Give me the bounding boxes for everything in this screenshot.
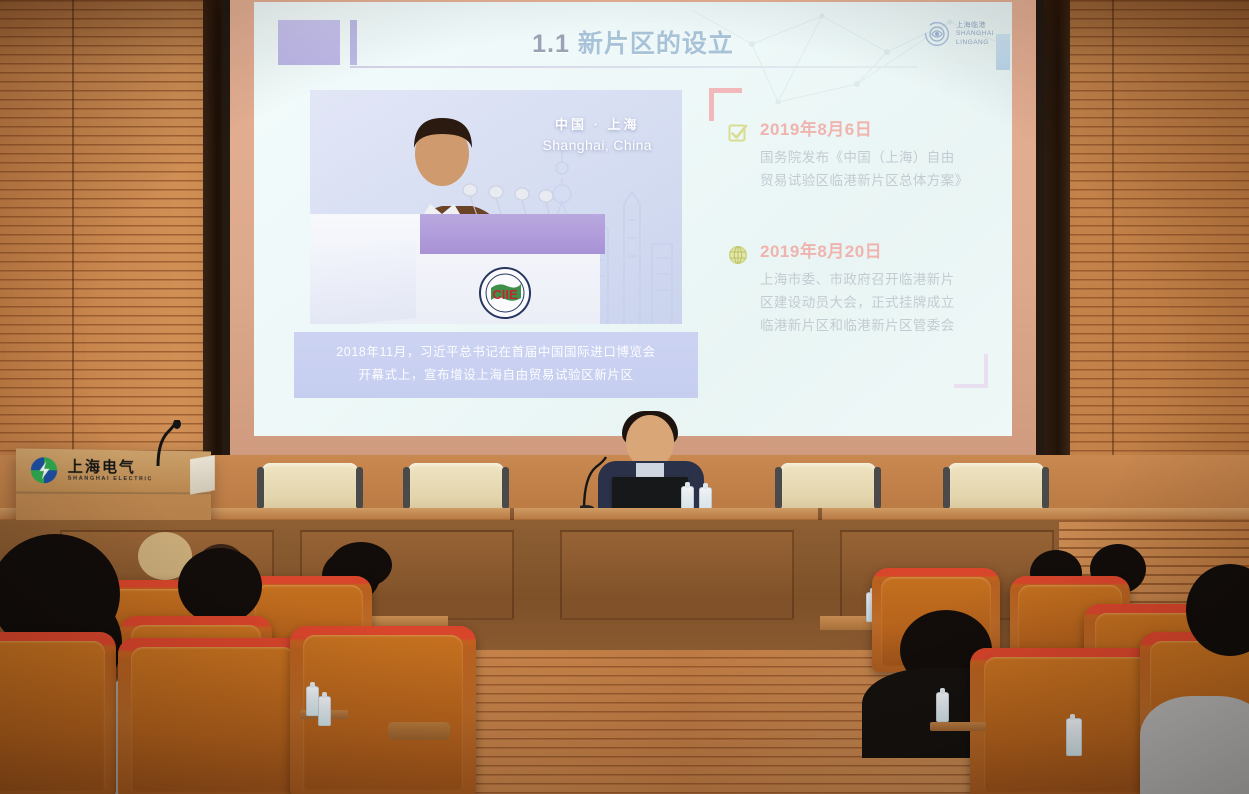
timeline-item-2-line2: 区建设动员大会，正式挂牌成立: [760, 292, 992, 315]
audience-shoulders: [1140, 696, 1249, 794]
slide-title-text: 新片区的设立: [578, 30, 734, 58]
podium-logo-cn: 上海电气: [68, 459, 153, 476]
water-bottle: [1066, 718, 1082, 756]
slide-photo: 中国 · 上海 Shanghai, China: [310, 90, 682, 324]
lingang-emblem-icon: [923, 20, 951, 48]
lingang-logo-cn: 上海临港: [956, 21, 994, 30]
timeline-item-2-body: 上海市委、市政府召开临港新片 区建设动员大会，正式挂牌成立 临港新片区和临港新片…: [760, 269, 992, 338]
lingang-logo: 上海临港 SHANGHAI LINGANG: [923, 20, 994, 48]
timeline-item-1-line1: 国务院发布《中国（上海）自由: [760, 147, 992, 170]
timeline-item-1-body: 国务院发布《中国（上海）自由 贸易试验区临港新片区总体方案》: [760, 147, 992, 193]
projection-screen-frame: 1.1 新片区的设立 上海临港 SHANGHAI LINGANG: [222, 0, 1044, 472]
auditorium-seat: [118, 638, 308, 794]
panel-chair: [408, 463, 504, 511]
checkbox-checked-icon: [728, 123, 748, 143]
lingang-logo-text: 上海临港 SHANGHAI LINGANG: [956, 21, 994, 48]
photo-overlay-cn: 中国 · 上海: [542, 114, 652, 133]
photo-caption-line1: 2018年11月，习近平总书记在首届中国国际进口博览会: [294, 341, 698, 364]
panel-chair: [948, 463, 1044, 511]
shanghai-electric-logo-icon: [29, 455, 60, 486]
audience-area: [0, 520, 1249, 794]
logo-side-tab: [996, 34, 1010, 70]
water-bottle: [936, 692, 949, 722]
ciie-emblem-icon: CIIE: [478, 266, 532, 320]
timeline-item-1-line2: 贸易试验区临港新片区总体方案》: [760, 170, 992, 193]
podium-side-face: [190, 455, 215, 494]
presentation-slide: 1.1 新片区的设立 上海临港 SHANGHAI LINGANG: [254, 2, 1012, 436]
seat-tray: [930, 722, 986, 731]
seat-armrest: [388, 722, 450, 740]
photo-caption: 2018年11月，习近平总书记在首届中国国际进口博览会 开幕式上，宣布增设上海自…: [294, 332, 698, 398]
photo-podium-band: [420, 214, 605, 254]
auditorium-seat: [0, 632, 116, 794]
corner-bracket-bottom-right: [954, 354, 988, 388]
podium-logo-en: SHANGHAI ELECTRIC: [68, 476, 153, 483]
title-underline: [350, 66, 917, 68]
photo-overlay-text: 中国 · 上海 Shanghai, China: [542, 114, 652, 153]
timeline-item-2: 2019年8月20日 上海市委、市政府召开临港新片 区建设动员大会，正式挂牌成立…: [728, 242, 992, 338]
audience-head: [178, 548, 262, 624]
wall-dark-column: [1044, 0, 1070, 520]
photo-caption-line2: 开幕式上，宣布增设上海自由贸易试验区新片区: [294, 364, 698, 387]
timeline-item-1-date: 2019年8月6日: [760, 120, 992, 140]
lecture-hall-photo: 1.1 新片区的设立 上海临港 SHANGHAI LINGANG: [0, 0, 1249, 794]
timeline-item-2-date: 2019年8月20日: [760, 242, 992, 262]
globe-icon: [728, 245, 748, 265]
water-bottle: [318, 696, 331, 726]
panel-chair: [780, 463, 876, 511]
photo-podium-side: [310, 240, 416, 324]
presenter-laptop: [612, 477, 688, 511]
slide-title-number: 1.1: [532, 30, 570, 58]
timeline-item-2-line3: 临港新片区和临港新片区管委会: [760, 315, 992, 338]
lingang-logo-en1: SHANGHAI: [956, 30, 994, 39]
corner-bracket-top-left: [709, 88, 742, 121]
panel-chair: [262, 463, 358, 511]
photo-overlay-en: Shanghai, China: [542, 137, 652, 153]
wall-panel: [560, 530, 794, 620]
lingang-logo-en2: LINGANG: [956, 39, 994, 48]
ciie-emblem-text: CIIE: [492, 287, 518, 302]
timeline-item-2-line1: 上海市委、市政府召开临港新片: [760, 269, 992, 292]
timeline-item-1: 2019年8月6日 国务院发布《中国（上海）自由 贸易试验区临港新片区总体方案》: [728, 120, 992, 193]
slide-title: 1.1 新片区的设立: [254, 24, 1012, 60]
podium-microphone-icon: [152, 420, 186, 466]
projection-screen-mat: 1.1 新片区的设立 上海临港 SHANGHAI LINGANG: [230, 0, 1036, 462]
gooseneck-microphone-icon: [580, 455, 610, 510]
